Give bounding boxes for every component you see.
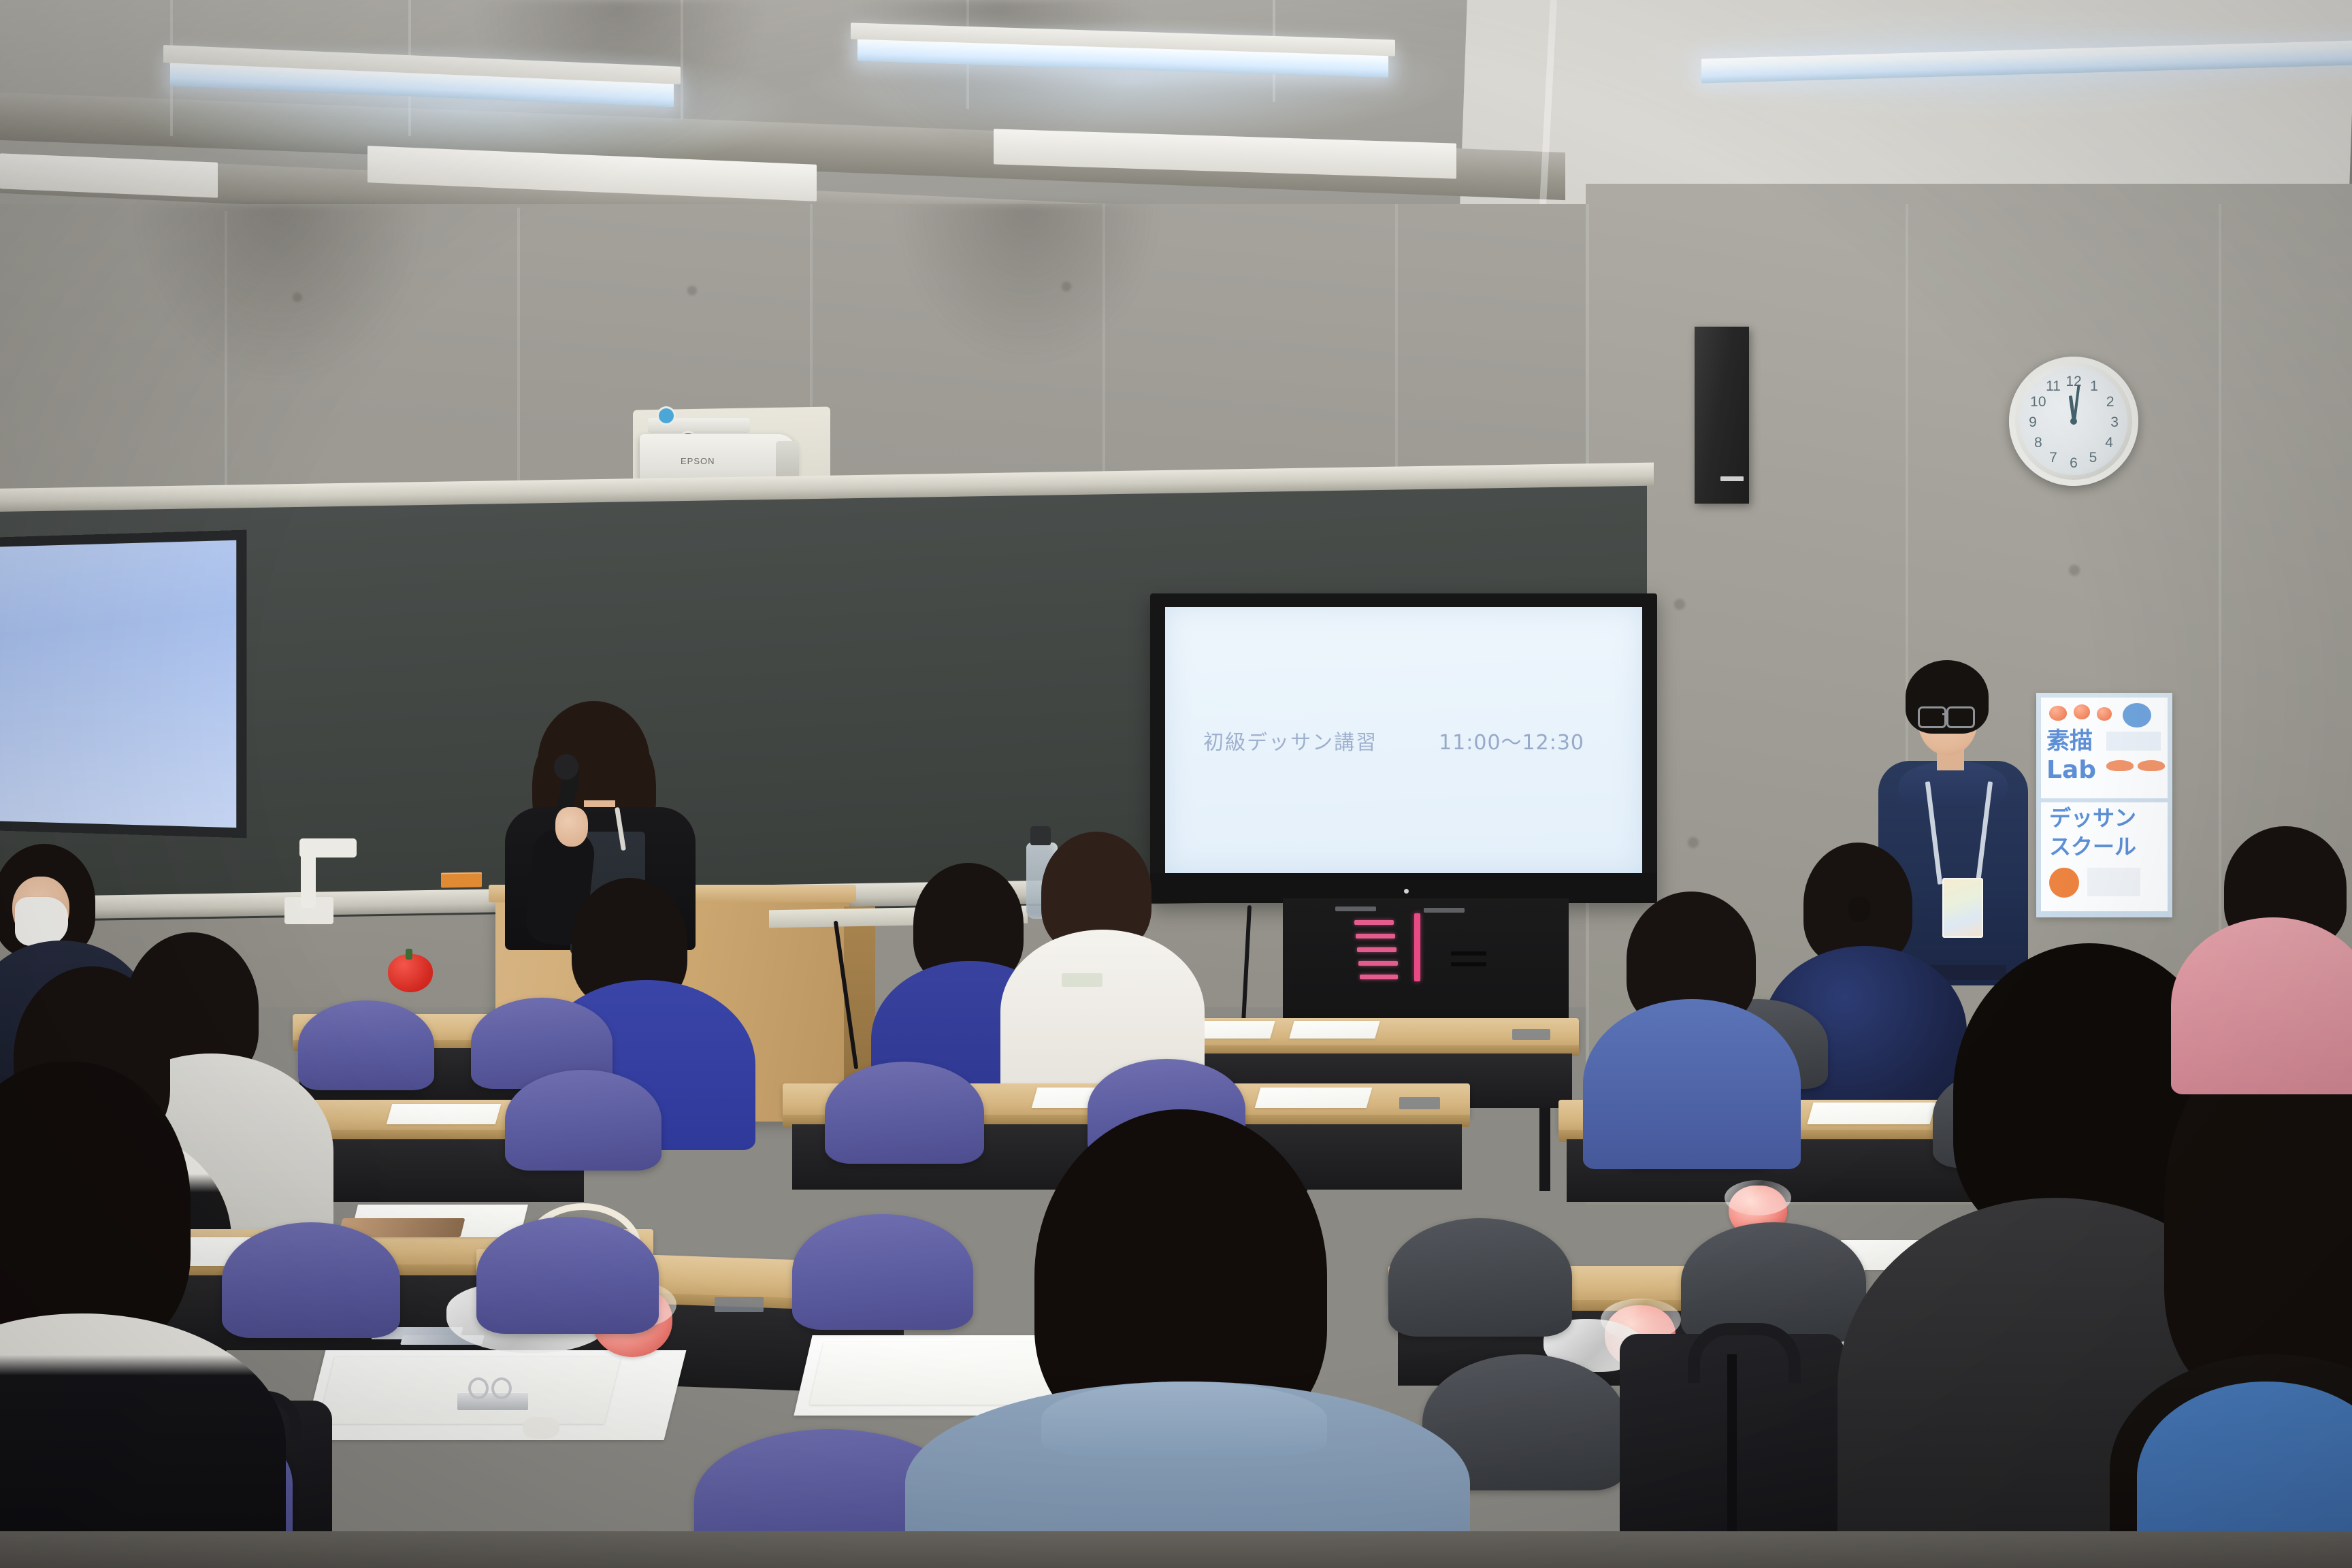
wall-tie-hole-4 (1674, 599, 1685, 610)
poster-text-block-top (2106, 732, 2161, 751)
still-life-bell-pepper[interactable] (388, 954, 433, 992)
chair-r2-2[interactable] (825, 1062, 984, 1164)
chair-r3-5[interactable] (1681, 1222, 1866, 1342)
chair-r3-1[interactable] (222, 1222, 400, 1338)
stand-button-2[interactable] (1451, 962, 1486, 966)
desk-paper-r2d[interactable] (1807, 1102, 1935, 1124)
audience-shoulders-right-mid (1583, 999, 1801, 1169)
hair-clip (1848, 897, 1870, 921)
presentation-display-screen: 初級デッサン講習 11:00〜12:30 (1165, 607, 1642, 873)
left-wall-monitor[interactable] (0, 530, 246, 838)
tee-graphic (1062, 973, 1102, 987)
dessin-school-poster: 素描 Lab デッサン スクール (2036, 693, 2172, 917)
desk-paper-r2c[interactable] (1255, 1088, 1373, 1108)
poster-apple-icon-2 (2074, 704, 2090, 719)
clock-num-8: 8 (2034, 435, 2042, 451)
chair-r2-1[interactable] (505, 1070, 661, 1171)
poster-brand-en: Lab (2046, 757, 2096, 783)
floor (0, 1531, 2352, 1568)
staff-glasses-right-lens (1946, 706, 1975, 728)
poster-subtitle-line2: スクール (2049, 835, 2136, 858)
projector-brand-label: EPSON (681, 456, 728, 467)
backpack-handle (1688, 1323, 1801, 1383)
poster-apple-icon-4 (2106, 760, 2134, 771)
presentation-display[interactable]: 初級デッサン講習 11:00〜12:30 (1150, 593, 1657, 903)
water-bottle-cap[interactable] (1030, 826, 1051, 845)
stand-indicator-bar-2 (1356, 934, 1395, 938)
chair-r3-4[interactable] (1388, 1218, 1572, 1337)
poster-subtitle-line1: デッサン (2049, 806, 2136, 830)
clock-num-4: 4 (2105, 435, 2113, 451)
kneaded-eraser[interactable] (523, 1417, 559, 1439)
left-monitor-screen (0, 540, 236, 828)
staff-glasses-bridge (1942, 713, 1948, 715)
stand-indicator-vertical (1414, 913, 1420, 981)
stand-indicator-bar-4 (1358, 961, 1398, 966)
wall-tie-hole-2 (687, 286, 697, 295)
slide-time: 11:00〜12:30 (1439, 725, 1584, 755)
clock-num-10: 10 (2030, 394, 2046, 410)
slide-title: 初級デッサン講習 (1203, 725, 1377, 755)
chalk-tray-eraser-1[interactable] (441, 872, 482, 887)
desk-chip-r1 (1512, 1029, 1550, 1040)
document-camera-head (299, 838, 357, 857)
clock-center-pin (2070, 418, 2077, 425)
desk-chip-r3b (715, 1297, 764, 1312)
poster-apple-icon-5 (2138, 760, 2165, 771)
presenter-hand (555, 807, 588, 847)
poster-apple-icon-1 (2049, 706, 2067, 721)
chair-r3-2[interactable] (476, 1217, 659, 1334)
poster-seal-top (2123, 703, 2151, 728)
poster-bottom-panel: デッサン スクール (2041, 802, 2168, 911)
stand-indicator-bar-1 (1354, 920, 1394, 925)
hoodie-collar (1041, 1382, 1327, 1456)
desk-chip-r2b (1399, 1097, 1440, 1109)
clock-num-6: 6 (2070, 455, 2078, 472)
clock-num-9: 9 (2029, 414, 2037, 431)
audience-shoulders-front-left (0, 1313, 286, 1568)
clock-num-2: 2 (2106, 394, 2114, 410)
wall-stain-2 (898, 204, 1157, 361)
poster-brand-jp: 素描 (2046, 729, 2093, 753)
bell-pepper-stem (406, 949, 412, 960)
wall-seam-5 (1395, 204, 1398, 507)
wall-tie-hole-6 (2069, 565, 2080, 576)
stand-chrome-trim-1 (1335, 906, 1376, 911)
stand-chrome-trim-2 (1424, 908, 1465, 913)
projector-knob-1 (659, 408, 674, 423)
binder-clip-handle-1 (468, 1377, 489, 1399)
stand-indicator-bar-5 (1360, 975, 1398, 979)
microphone-head (554, 754, 578, 780)
desk-paper-r1b[interactable] (1289, 1021, 1379, 1039)
binder-clip-handle-2 (491, 1377, 512, 1399)
chair-r1-1[interactable] (298, 1000, 434, 1090)
wall-seam-2 (517, 208, 520, 500)
document-camera-arm (301, 849, 316, 908)
clock-num-11: 11 (2046, 378, 2061, 395)
poster-seal-bottom (2049, 868, 2079, 898)
wall-stain-1 (136, 204, 422, 381)
speaker-brand-badge (1720, 476, 1744, 481)
face-mask (15, 897, 68, 946)
staff-glasses-left-lens (1918, 706, 1946, 728)
clock-face: 12 1 2 3 4 5 6 7 8 9 10 11 (2020, 367, 2127, 475)
apple-plastic-wrap-4 (1725, 1180, 1791, 1215)
audience-head-far-right (2164, 1041, 2352, 1395)
stand-indicator-bar-3 (1357, 947, 1396, 952)
clock-num-5: 5 (2089, 450, 2097, 466)
clock-minute-hand (2073, 385, 2080, 421)
poster-top-panel: 素描 Lab (2041, 698, 2168, 798)
clock-num-3: 3 (2110, 414, 2119, 431)
stand-button-1[interactable] (1451, 951, 1486, 955)
classroom-scene: EPSON 12 1 2 3 4 5 6 7 8 9 10 11 (0, 0, 2352, 1568)
clock-num-1: 1 (2090, 378, 2098, 395)
poster-text-block-bottom (2087, 868, 2140, 896)
desk-paper-r2a[interactable] (387, 1104, 502, 1124)
slide-content: 初級デッサン講習 11:00〜12:30 (1203, 725, 1584, 755)
display-power-led (1404, 889, 1409, 894)
wall-clock: 12 1 2 3 4 5 6 7 8 9 10 11 (2009, 357, 2138, 486)
clock-num-7: 7 (2049, 450, 2057, 466)
wall-tie-hole-5 (1688, 837, 1699, 848)
poster-apple-icon-3 (2097, 707, 2112, 721)
staff-name-badge (1942, 878, 1983, 938)
chair-r3-3[interactable] (792, 1214, 973, 1330)
binder-clip-1[interactable] (457, 1392, 528, 1410)
